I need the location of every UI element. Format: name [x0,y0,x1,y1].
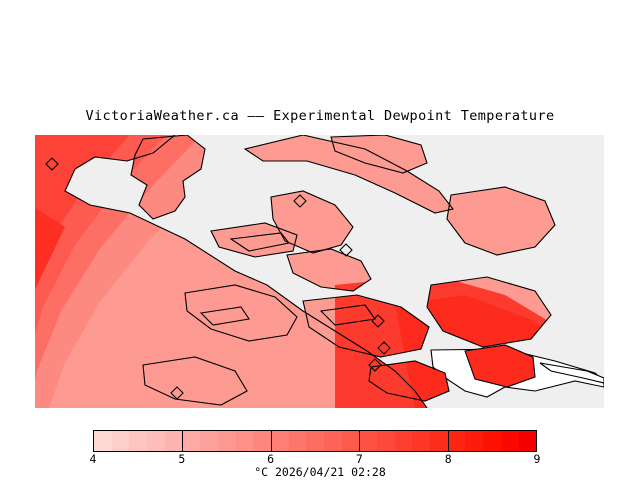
colorbar-label-5: 5 [178,452,185,466]
colorbar-swatch-20 [448,431,466,451]
colorbar-swatch-9 [253,431,271,451]
colorbar-swatch-24 [519,431,537,451]
colorbar-swatch-23 [501,431,519,451]
colorbar-swatch-10 [271,431,289,451]
page-title: VictoriaWeather.ca —— Experimental Dewpo… [0,108,640,124]
colorbar-swatch-8 [236,431,254,451]
colorbar-swatch-17 [395,431,413,451]
colorbar-swatch-21 [465,431,483,451]
colorbar-swatch-4 [165,431,183,451]
colorbar-swatch-16 [377,431,395,451]
dewpoint-contour-map[interactable] [35,135,604,408]
colorbar-swatch-22 [483,431,501,451]
colorbar-swatch-7 [218,431,236,451]
colorbar-frame[interactable] [93,430,537,452]
colorbar-swatch-5 [182,431,200,451]
colorbar-swatch-6 [200,431,218,451]
colorbar-gradient [94,431,536,451]
colorbar-swatch-13 [324,431,342,451]
colorbar-swatch-2 [129,431,147,451]
colorbar-swatch-3 [147,431,165,451]
colorbar[interactable]: 456789 °C 2026/04/21 02:28 [0,425,640,480]
colorbar-caption: °C 2026/04/21 02:28 [0,465,640,479]
colorbar-tick-5 [182,430,183,452]
colorbar-swatch-11 [289,431,307,451]
colorbar-swatch-18 [412,431,430,451]
colorbar-tick-7 [359,430,360,452]
map-panel[interactable] [35,135,604,408]
colorbar-swatch-0 [94,431,112,451]
colorbar-swatch-15 [359,431,377,451]
colorbar-swatch-19 [430,431,448,451]
colorbar-label-9: 9 [534,452,541,466]
colorbar-tick-6 [271,430,272,452]
colorbar-tick-8 [448,430,449,452]
colorbar-label-6: 6 [267,452,274,466]
colorbar-label-8: 8 [445,452,452,466]
colorbar-label-4: 4 [90,452,97,466]
colorbar-label-7: 7 [356,452,363,466]
colorbar-swatch-1 [112,431,130,451]
colorbar-swatch-12 [306,431,324,451]
colorbar-swatch-14 [342,431,360,451]
